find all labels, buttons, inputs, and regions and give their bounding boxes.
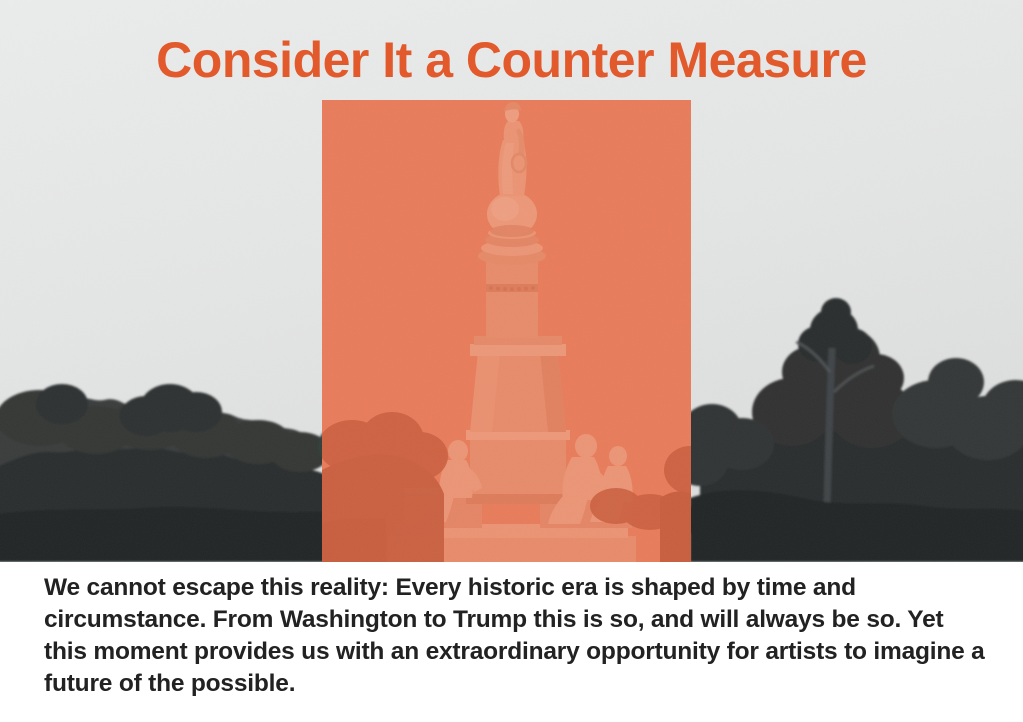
page-title: Consider It a Counter Measure xyxy=(0,32,1023,88)
poster-canvas: Consider It a Counter Measure We cannot … xyxy=(0,0,1023,722)
caption-band: We cannot escape this reality: Every his… xyxy=(0,562,1023,722)
caption-paragraph: We cannot escape this reality: Every his… xyxy=(44,572,988,700)
orange-tint-panel xyxy=(318,100,716,562)
hero-photograph: Consider It a Counter Measure xyxy=(0,0,1023,562)
